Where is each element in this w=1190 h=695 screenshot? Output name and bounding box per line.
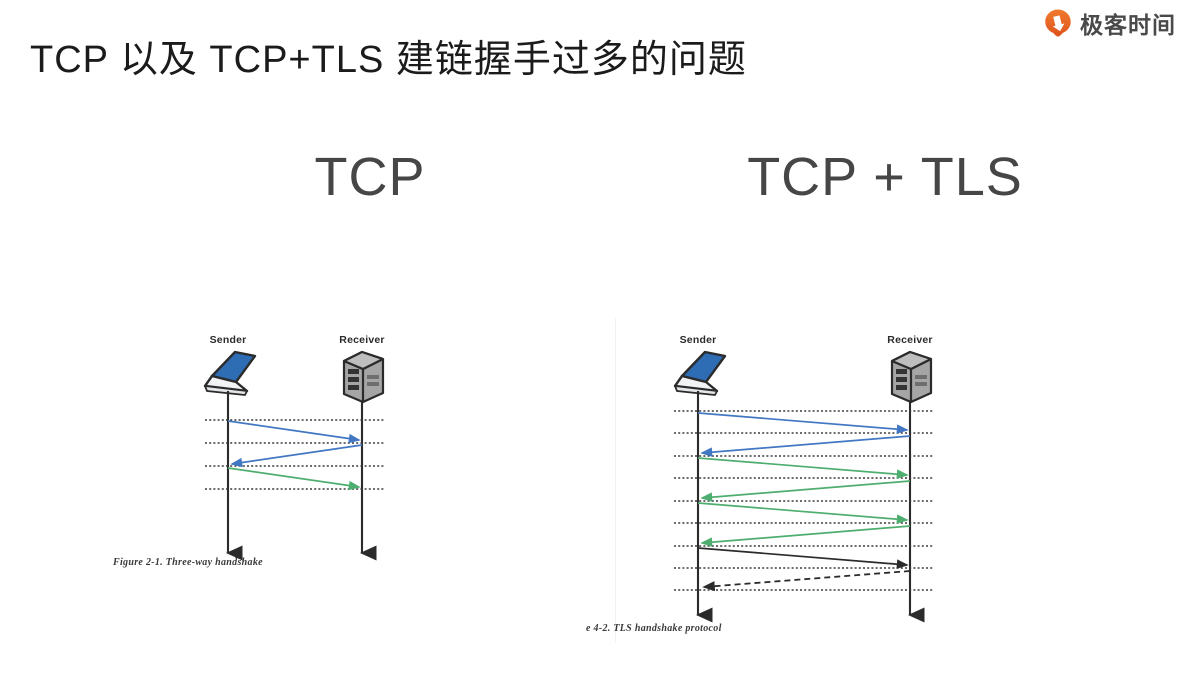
- column-tcp: TCP: [150, 150, 580, 204]
- brand-name: 极客时间: [1080, 6, 1176, 40]
- server-icon: [344, 352, 383, 402]
- laptop-icon: [205, 352, 255, 395]
- message-arrow-3: [228, 468, 359, 487]
- figure-caption-left: Figure 2-1. Three-way handshake: [112, 557, 263, 568]
- sender-label-left: Sender: [210, 334, 247, 346]
- server-icon: [892, 352, 931, 402]
- message-arrow-7: [698, 548, 907, 565]
- receiver-label-right: Receiver: [887, 334, 932, 346]
- message-arrow-3: [698, 458, 907, 475]
- column-tcp-tls: TCP + TLS: [595, 150, 1155, 204]
- message-arrow-4: [702, 481, 910, 498]
- message-arrow-8: [704, 571, 910, 587]
- heading-tcp-tls: TCP + TLS: [615, 150, 1155, 204]
- heading-tcp: TCP: [160, 150, 580, 204]
- figure-caption-right: e 4-2. TLS handshake protocol: [586, 623, 722, 634]
- sender-label-right: Sender: [680, 334, 717, 346]
- message-arrow-2: [702, 436, 910, 453]
- message-arrow-1: [228, 421, 359, 440]
- diagram-tcp-handshake: Sender Receiver: [95, 325, 515, 580]
- diagram-tls-handshake: Sender Receiver: [615, 318, 1031, 643]
- geektime-drop-icon: [1043, 8, 1073, 38]
- message-arrow-6: [702, 526, 910, 543]
- message-arrow-1: [698, 413, 907, 430]
- receiver-label-left: Receiver: [339, 334, 384, 346]
- brand-logo: 极客时间: [1043, 6, 1176, 40]
- laptop-icon: [675, 352, 725, 395]
- page-title: TCP 以及 TCP+TLS 建链握手过多的问题: [30, 28, 747, 83]
- message-arrow-5: [698, 503, 907, 520]
- message-arrow-2: [232, 445, 362, 464]
